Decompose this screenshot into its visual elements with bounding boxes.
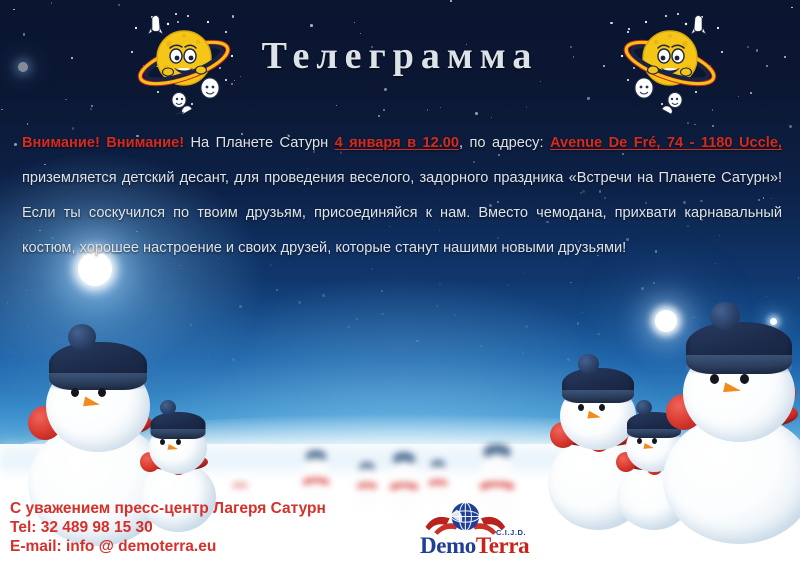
star-icon bbox=[798, 277, 800, 279]
star-icon bbox=[381, 290, 383, 292]
logo-wordmark: DemoTerra bbox=[420, 533, 529, 559]
star-icon bbox=[18, 234, 19, 235]
star-icon bbox=[356, 318, 358, 320]
snowman-eye bbox=[98, 388, 106, 397]
poster-header: Телеграмма bbox=[0, 0, 800, 120]
contact-block: С уважением пресс-центр Лагеря Сатурн Te… bbox=[10, 499, 326, 556]
star-icon bbox=[454, 314, 456, 316]
star-icon bbox=[567, 358, 570, 361]
address-lead: , по адресу: bbox=[459, 135, 543, 151]
snowman-eye bbox=[578, 404, 584, 411]
star-icon bbox=[232, 358, 235, 361]
hat-pompom bbox=[578, 354, 599, 374]
star-glow-icon bbox=[770, 318, 777, 325]
telegram-poster: Телеграмма bbox=[0, 0, 800, 564]
demoterra-logo: C.I.J.D. DemoTerra bbox=[420, 502, 540, 558]
event-address: Avenue De Fré, 74 - 1180 Uccle, bbox=[550, 135, 782, 151]
event-date: 4 января в 12.00 bbox=[335, 135, 459, 151]
star-icon bbox=[371, 268, 373, 270]
logo-terra-text: Terra bbox=[476, 533, 529, 558]
star-icon bbox=[687, 122, 689, 124]
star-icon bbox=[439, 284, 440, 285]
star-icon bbox=[28, 326, 30, 328]
signature-line: С уважением пресс-центр Лагеря Сатурн bbox=[10, 499, 326, 518]
star-icon bbox=[208, 357, 210, 359]
star-icon bbox=[347, 326, 350, 329]
star-icon bbox=[480, 345, 482, 347]
star-icon bbox=[14, 143, 17, 146]
star-icon bbox=[644, 340, 646, 342]
star-icon bbox=[522, 352, 525, 355]
hat-pompom bbox=[636, 400, 652, 415]
star-icon bbox=[570, 282, 572, 284]
star-icon bbox=[27, 123, 28, 124]
star-icon bbox=[525, 325, 528, 328]
star-icon bbox=[523, 273, 524, 274]
star-icon bbox=[789, 125, 792, 128]
snowman-eye bbox=[71, 388, 79, 397]
snowman-eye bbox=[599, 404, 605, 411]
star-icon bbox=[436, 305, 438, 307]
hat-pompom bbox=[160, 400, 176, 415]
star-icon bbox=[10, 351, 13, 354]
distant-snowman bbox=[352, 462, 382, 508]
star-icon bbox=[693, 317, 695, 319]
star-icon bbox=[577, 322, 580, 325]
star-icon bbox=[276, 289, 278, 291]
star-icon bbox=[507, 284, 509, 286]
saturn-mascot-icon bbox=[608, 8, 732, 118]
snowman-eye bbox=[637, 438, 642, 444]
star-icon bbox=[597, 333, 599, 335]
phone-line: Tel: 32 489 98 15 30 bbox=[10, 518, 326, 537]
announcement-text: Внимание! Внимание! На Планете Сатурн 4 … bbox=[22, 126, 782, 266]
star-icon bbox=[694, 124, 695, 125]
star-icon bbox=[641, 287, 644, 290]
logo-demo-text: Demo bbox=[420, 533, 476, 558]
snowman-eye bbox=[176, 439, 181, 445]
snowman-eye bbox=[160, 439, 165, 445]
star-icon bbox=[239, 305, 242, 308]
star-icon bbox=[766, 296, 768, 298]
email-line: E-mail: info @ demoterra.eu bbox=[10, 537, 326, 556]
star-icon bbox=[381, 313, 384, 316]
star-icon bbox=[7, 303, 8, 304]
moon-glow-icon bbox=[655, 310, 677, 332]
star-icon bbox=[653, 282, 655, 284]
planet-text: На Планете Сатурн bbox=[184, 135, 335, 151]
star-icon bbox=[227, 298, 228, 299]
hat-pompom bbox=[68, 324, 96, 350]
star-icon bbox=[581, 312, 583, 314]
snowman-large-right bbox=[654, 330, 800, 538]
announcement-body: приземляется детский десант, для проведе… bbox=[22, 170, 782, 256]
star-icon bbox=[416, 340, 419, 343]
star-icon bbox=[298, 301, 301, 304]
hat-pompom bbox=[710, 302, 740, 330]
star-icon bbox=[322, 294, 324, 296]
star-icon bbox=[190, 324, 192, 326]
snowman-eye bbox=[710, 374, 719, 384]
attention-text: Внимание! Внимание! bbox=[22, 135, 184, 151]
star-icon bbox=[26, 289, 27, 290]
snowman-eye bbox=[740, 374, 749, 384]
